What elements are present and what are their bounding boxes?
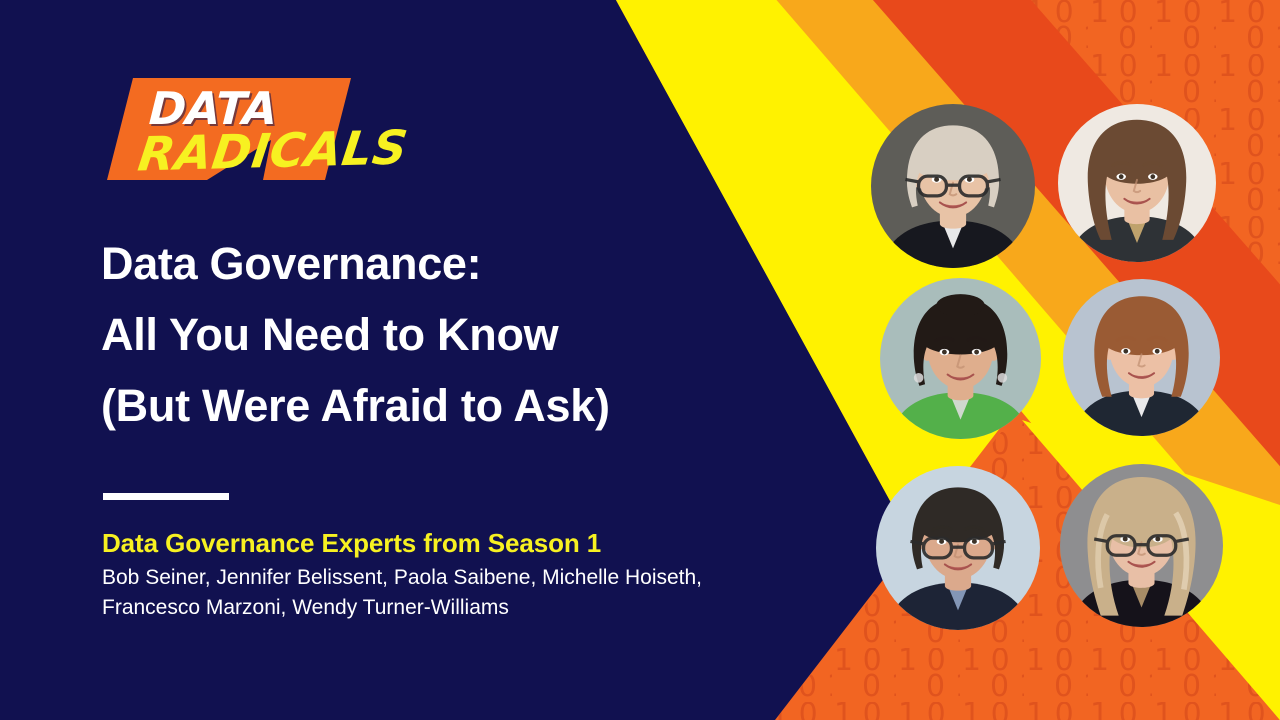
subheading: Data Governance Experts from Season 1 — [102, 528, 601, 559]
guest-avatar-jennifer-belissent[interactable] — [1058, 104, 1216, 262]
headline-line-3: (But Were Afraid to Ask) — [101, 370, 821, 441]
poster-canvas: 1 0 0 1 — [0, 0, 1280, 720]
headline: Data Governance: All You Need to Know (B… — [101, 228, 821, 441]
guest-avatar-francesco-marzoni[interactable] — [876, 466, 1040, 630]
headline-line-1: Data Governance: — [101, 228, 821, 299]
guest-names: Bob Seiner, Jennifer Belissent, Paola Sa… — [102, 563, 842, 623]
guest-avatar-bob-seiner[interactable] — [871, 104, 1035, 268]
headline-line-2: All You Need to Know — [101, 299, 821, 370]
guest-names-line-1: Bob Seiner, Jennifer Belissent, Paola Sa… — [102, 563, 842, 593]
guest-avatar-wendy-turner-williams[interactable] — [1060, 464, 1223, 627]
guest-names-line-2: Francesco Marzoni, Wendy Turner-Williams — [102, 593, 842, 623]
guest-avatar-paola-saibene[interactable] — [880, 278, 1041, 439]
logo-word-radicals: RADICALS — [135, 121, 411, 183]
guest-avatar-michelle-hoiseth[interactable] — [1063, 279, 1220, 436]
data-radicals-logo[interactable]: DATA RADICALS — [103, 68, 355, 190]
divider-rule — [103, 493, 229, 500]
